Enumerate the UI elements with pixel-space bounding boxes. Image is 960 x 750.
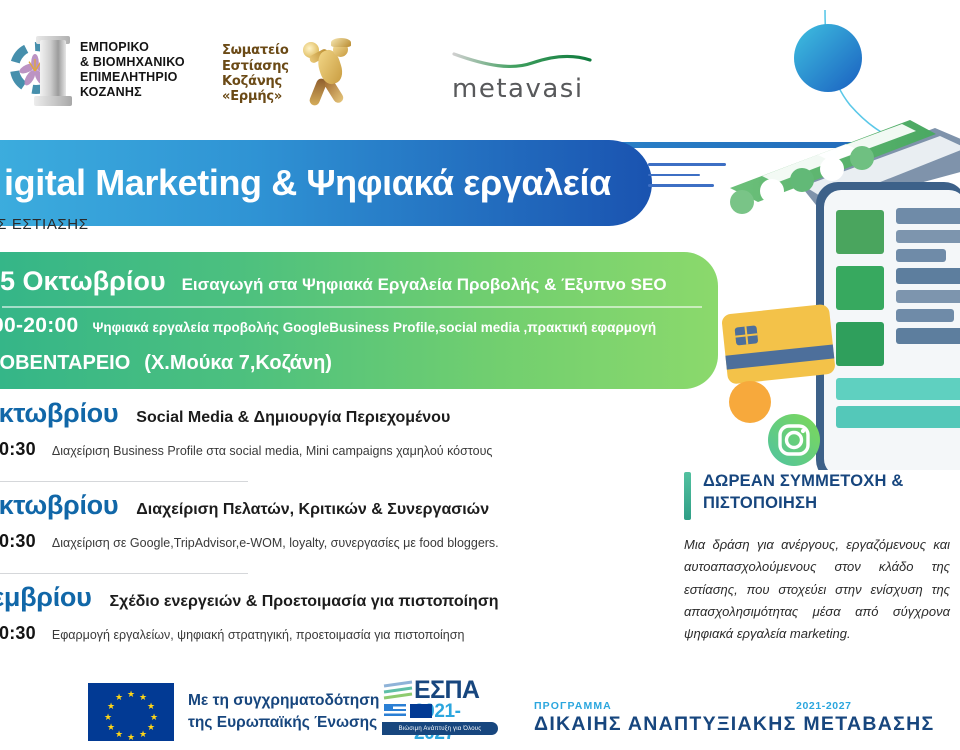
credit-card-icon <box>721 304 836 385</box>
schedule-date: Νοεμβρίου <box>0 582 92 613</box>
highlight-venue-row: ΚΟΒΕΝΤΑΡΕΙΟ (Χ.Μούκα 7,Κοζάνη) <box>0 352 332 375</box>
schedule-row: Νοεμβρίου Σχέδιο ενεργειών & Προετοιμασί… <box>0 582 596 674</box>
poster-root: ΕΜΠΟΡΙΚΟ & ΒΙΟΜΗΧΑΝΙΚΟ ΕΠΙΜΕΛΗΤΗΡΙΟ ΚΟΖΑ… <box>0 0 960 750</box>
header-logo-row: ΕΜΠΟΡΙΚΟ & ΒΙΟΜΗΧΑΝΙΚΟ ΕΠΙΜΕΛΗΤΗΡΙΟ ΚΟΖΑ… <box>0 28 660 128</box>
chamber-of-kozani-logo: ΕΜΠΟΡΙΚΟ & ΒΙΟΜΗΧΑΝΙΚΟ ΕΠΙΜΕΛΗΤΗΡΙΟ ΚΟΖΑ… <box>10 34 185 106</box>
eu-flag-icon: ★ ★ ★ ★ ★ ★ ★ ★ ★ ★ ★ ★ <box>88 683 174 741</box>
programme-years: 2021-2027 <box>796 700 852 712</box>
espa-tagline: Βιώσιμη Ανάπτυξη για Όλους <box>382 722 498 735</box>
chamber-line-3: ΕΠΙΜΕΛΗΤΗΡΙΟ <box>80 70 185 85</box>
espa-wave-icon <box>382 680 414 704</box>
espa-logo: ΕΣΠΑ 2021-2027 Βιώσιμη Ανάπτυξη για Όλου… <box>382 676 498 738</box>
panel-title: ΔΩΡΕΑΝ ΣΥΜΜΕΤΟΧΗ & ΠΙΣΤΟΠΟΙΗΣΗ <box>703 470 950 515</box>
page-title: igital Marketing & Ψηφιακά εργαλεία <box>4 162 611 204</box>
highlight-topic: Εισαγωγή στα Ψηφιακά Εργαλεία Προβολής &… <box>182 275 667 295</box>
schedule-row: 2 Οκτωβρίου Social Media & Δημιουργία Πε… <box>0 398 596 490</box>
phone-mockup-icon <box>816 182 960 470</box>
accent-bar <box>684 472 691 520</box>
blue-balloon-icon <box>794 24 862 92</box>
programme-name: ΔΙΚΑΙΗΣ ΑΝΑΠΤΥΞΙΑΚΗΣ ΜΕΤΑΒΑΣΗΣ <box>534 713 935 736</box>
schedule-description: Διαχείριση σε Google,TripAdvisor,e-WOM, … <box>52 536 499 550</box>
schedule-divider <box>0 481 248 483</box>
speed-lines-decoration <box>648 163 748 199</box>
chamber-emblem-icon <box>10 34 72 106</box>
orange-dot-icon <box>729 381 771 423</box>
storefront-awning-icon <box>730 120 936 214</box>
schedule-topic: Σχέδιο ενεργειών & Προετοιμασία για πιστ… <box>110 593 499 611</box>
instagram-icon <box>768 414 820 466</box>
eu-flag-small-icon <box>410 704 432 718</box>
chamber-logo-text: ΕΜΠΟΡΙΚΟ & ΒΙΟΜΗΧΑΝΙΚΟ ΕΠΙΜΕΛΗΤΗΡΙΟ ΚΟΖΑ… <box>80 40 185 100</box>
highlight-address: (Χ.Μούκα 7,Κοζάνη) <box>144 352 332 375</box>
schedule-topic: Διαχείριση Πελατών, Κριτικών & Συνεργασι… <box>136 501 489 519</box>
chamber-line-2: & ΒΙΟΜΗΧΑΝΙΚΟ <box>80 55 185 70</box>
highlight-session-block: 5 Οκτωβρίου Εισαγωγή στα Ψηφιακά Εργαλεί… <box>0 252 718 389</box>
schedule-date: 9 Οκτωβρίου <box>0 490 118 521</box>
ermis-logo-text: ΣωματείοΕστίασηςΚοζάνης«Ερμής» <box>222 43 289 104</box>
highlight-detail-row: 00-20:00 Ψηφιακά εργαλεία προβολής Googl… <box>0 314 656 338</box>
schedule-row: 9 Οκτωβρίου Διαχείριση Πελατών, Κριτικών… <box>0 490 596 582</box>
page-subtitle: ΑΔΟΣ ΕΣΤΙΑΣΗΣ <box>0 216 89 233</box>
chamber-line-1: ΕΜΠΟΡΙΚΟ <box>80 40 185 55</box>
highlight-description: Ψηφιακά εργαλεία προβολής GoogleBusiness… <box>92 320 656 335</box>
schedule-date: 2 Οκτωβρίου <box>0 398 118 429</box>
metavasi-logo: metavasi <box>452 50 592 104</box>
metavasi-swoosh-icon <box>452 50 592 72</box>
programme-footer: ΠΡΟΓΡΑΜΜΑ ΔΙΚΑΙΗΣ ΑΝΑΠΤΥΞΙΑΚΗΣ ΜΕΤΑΒΑΣΗΣ… <box>534 700 935 736</box>
schedule-time: :00-20:30 <box>0 531 36 552</box>
highlight-headline-row: 5 Οκτωβρίου Εισαγωγή στα Ψηφιακά Εργαλεί… <box>0 266 667 297</box>
highlight-divider <box>2 306 702 308</box>
schedule-time: :00-20:30 <box>0 439 36 460</box>
somateio-estiasis-ermis-logo: ΣωματείοΕστίασηςΚοζάνης«Ερμής» <box>222 36 361 112</box>
title-banner: igital Marketing & Ψηφιακά εργαλεία <box>0 140 652 226</box>
free-participation-panel: ΔΩΡΕΑΝ ΣΥΜΜΕΤΟΧΗ & ΠΙΣΤΟΠΟΙΗΣΗ Μια δράση… <box>684 470 950 646</box>
schedule-description: Εφαρμογή εργαλείων, ψηφιακή στρατηγική, … <box>52 628 465 642</box>
schedule-topic: Social Media & Δημιουργία Περιεχομένου <box>136 409 450 427</box>
greek-flag-icon <box>384 704 406 718</box>
schedule-time: :00-20:30 <box>0 623 36 644</box>
schedule-divider <box>0 573 248 575</box>
panel-body: Μια δράση για ανέργους, εργαζόμενους και… <box>684 534 950 646</box>
programme-label: ΠΡΟΓΡΑΜΜΑ <box>534 700 935 712</box>
highlight-venue: ΚΟΒΕΝΤΑΡΕΙΟ <box>0 352 130 375</box>
chamber-line-4: ΚΟΖΑΝΗΣ <box>80 85 185 100</box>
eu-cofunding-text: Με τη συγχρηματοδότηση της Ευρωπαϊκής Έν… <box>188 690 379 735</box>
schedule-description: Διαχείριση Business Profile στα social m… <box>52 444 493 458</box>
highlight-date: 5 Οκτωβρίου <box>0 266 166 297</box>
metavasi-wordmark: metavasi <box>452 74 592 104</box>
hermes-runner-icon <box>303 36 361 112</box>
schedule-list: 2 Οκτωβρίου Social Media & Δημιουργία Πε… <box>0 398 596 674</box>
highlight-time: 00-20:00 <box>0 314 78 338</box>
storefront-illustration <box>700 10 960 470</box>
